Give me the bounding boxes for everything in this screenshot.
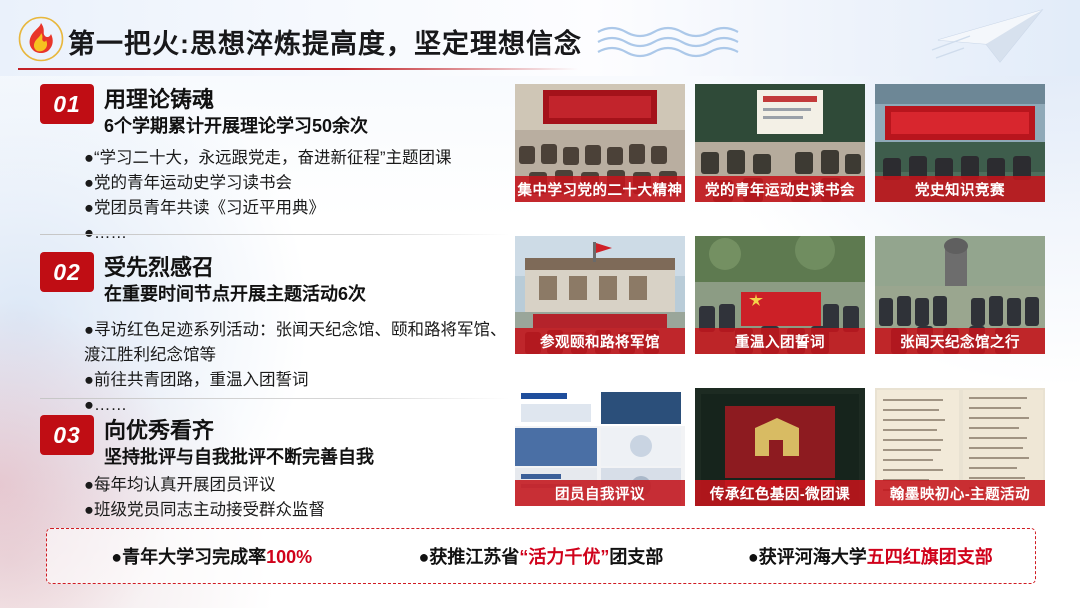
footer-item-2-highlight: “活力千优” [519, 547, 609, 567]
photo-youth-movement-reading[interactable]: 党的青年运动史读书会 [695, 84, 865, 202]
photo-caption: 参观颐和路将军馆 [515, 328, 685, 354]
block-01-title: 用理论铸魂 [104, 82, 214, 114]
wave-lines-icon [596, 24, 796, 64]
photo-self-evaluation[interactable]: 团员自我评议 [515, 388, 685, 506]
footer-item-3-prefix: ●获评河海大学 [748, 547, 867, 567]
photo-caption: 翰墨映初心-主题活动 [875, 480, 1045, 506]
block-03-badge: 03 [40, 415, 94, 455]
footer-item-2: ●获推江苏省“活力千优”团支部 [376, 543, 705, 569]
list-item: ●前往共青团路，重温入团誓词 [84, 368, 510, 393]
photo-caption: 党史知识竞赛 [875, 176, 1045, 202]
photo-caption: 重温入团誓词 [695, 328, 865, 354]
divider-2 [40, 398, 510, 399]
photo-calligraphy-activity[interactable]: 翰墨映初心-主题活动 [875, 388, 1045, 506]
footer-item-1-highlight: 100% [266, 547, 312, 567]
photo-caption: 党的青年运动史读书会 [695, 176, 865, 202]
block-01-badge: 01 [40, 84, 94, 124]
footer-item-3: ●获评河海大学五四红旗团支部 [706, 543, 1035, 569]
list-item: ●班级党员同志主动接受群众监督 [84, 498, 510, 523]
list-item: ●每年均认真开展团员评议 [84, 473, 510, 498]
block-02-subtitle: 在重要时间节点开展主题活动6次 [104, 280, 366, 306]
list-item: ●党的青年运动史学习读书会 [84, 171, 510, 196]
photo-visit-general-museum[interactable]: 参观颐和路将军馆 [515, 236, 685, 354]
footer-item-1-prefix: ●青年大学习完成率 [111, 547, 266, 567]
paper-plane-icon [930, 6, 1050, 66]
page-title: 第一把火:思想淬炼提高度，坚定理想信念 [68, 22, 582, 61]
block-02-bullets: ●寻访红色足迹系列活动：张闻天纪念馆、颐和路将军馆、渡江胜利纪念馆等 ●前往共青… [84, 318, 510, 418]
block-01-bullets: ●“学习二十大，永远跟党走，奋进新征程”主题团课 ●党的青年运动史学习读书会 ●… [84, 146, 510, 246]
photo-party-history-quiz[interactable]: 党史知识竞赛 [875, 84, 1045, 202]
photo-study-20th-congress[interactable]: 集中学习党的二十大精神 [515, 84, 685, 202]
photo-zhangwentian-memorial[interactable]: 张闻天纪念馆之行 [875, 236, 1045, 354]
photo-caption: 团员自我评议 [515, 480, 685, 506]
footer-item-1: ●青年大学习完成率100% [47, 543, 376, 569]
block-03-subtitle: 坚持批评与自我批评不断完善自我 [104, 443, 374, 469]
photo-caption: 张闻天纪念馆之行 [875, 328, 1045, 354]
footer-highlights: ●青年大学习完成率100% ●获推江苏省“活力千优”团支部 ●获评河海大学五四红… [46, 528, 1036, 584]
footer-item-3-highlight: 五四红旗团支部 [867, 547, 993, 567]
block-01-subtitle: 6个学期累计开展理论学习50余次 [104, 112, 368, 138]
list-item: ●寻访红色足迹系列活动：张闻天纪念馆、颐和路将军馆、渡江胜利纪念馆等 [84, 318, 510, 368]
photo-caption: 集中学习党的二十大精神 [515, 176, 685, 202]
photo-red-gene-micro-class[interactable]: 传承红色基因-微团课 [695, 388, 865, 506]
divider-1 [40, 234, 510, 235]
list-item: ●党团员青年共读《习近平用典》 [84, 196, 510, 221]
photo-oath-review[interactable]: 重温入团誓词 [695, 236, 865, 354]
title-underline [18, 68, 578, 70]
block-02-title: 受先烈感召 [104, 250, 214, 282]
list-item: ●“学习二十大，永远跟党走，奋进新征程”主题团课 [84, 146, 510, 171]
block-03-title: 向优秀看齐 [104, 413, 214, 445]
flame-icon [18, 16, 64, 62]
photo-caption: 传承红色基因-微团课 [695, 480, 865, 506]
footer-item-2-prefix: ●获推江苏省 [419, 547, 520, 567]
footer-item-2-suffix: 团支部 [609, 547, 663, 567]
block-03-bullets: ●每年均认真开展团员评议 ●班级党员同志主动接受群众监督 [84, 473, 510, 523]
block-02-badge: 02 [40, 252, 94, 292]
